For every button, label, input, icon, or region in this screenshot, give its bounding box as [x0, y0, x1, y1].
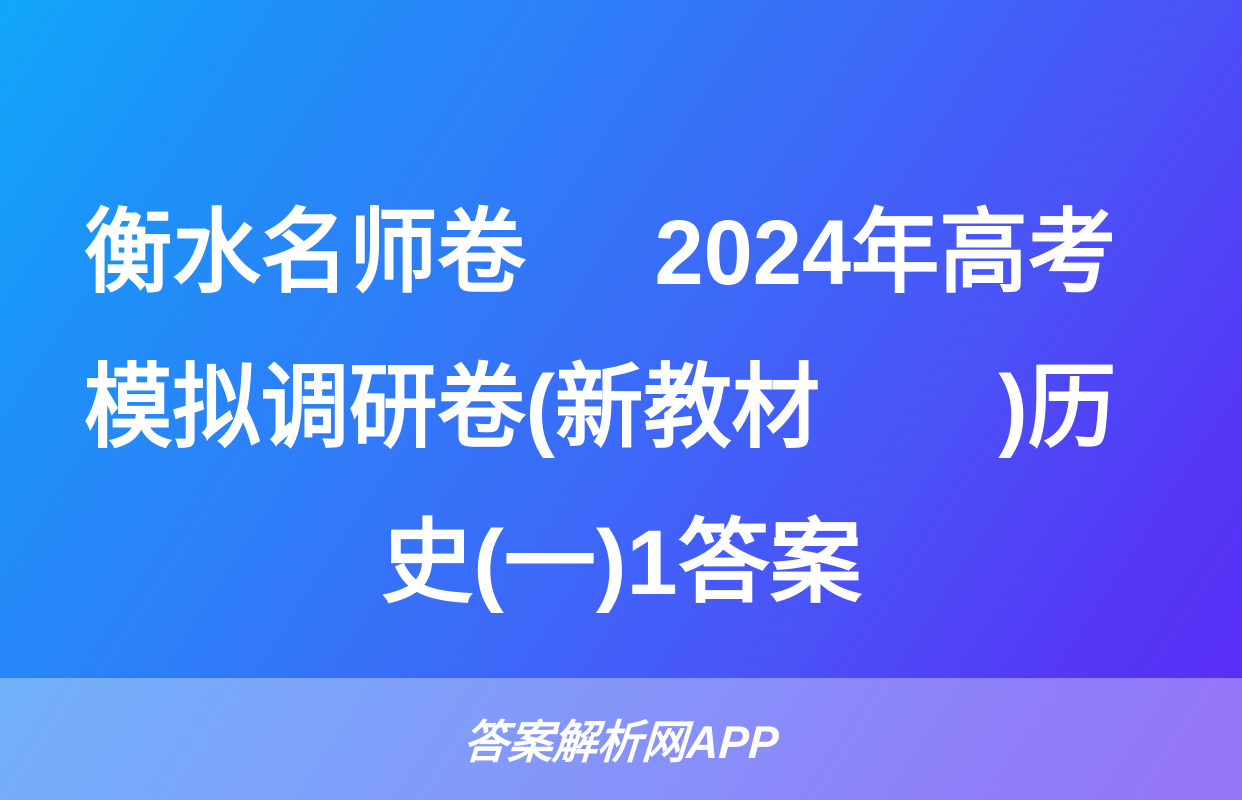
title-line-1-segment-b: 2024年高考: [655, 176, 1116, 331]
title-line-2: 模拟调研卷(新教材 )历: [84, 331, 1116, 486]
missing-glyph-placeholder: [848, 331, 971, 486]
title-line-2-segment-a: 模拟调研卷(新教材: [84, 331, 820, 486]
title-line-3: 史(一)1答案: [84, 486, 1159, 641]
watermark-band: 答案解析网APP: [0, 678, 1242, 800]
answer-cover-card: 衡水名师卷 2024年高考 模拟调研卷(新教材 )历 史(一)1答案 答案解析网…: [0, 0, 1242, 800]
app-watermark-label: 答案解析网APP: [461, 706, 780, 772]
title-line-1-segment-a: 衡水名师卷: [84, 176, 526, 331]
title-line-1: 衡水名师卷 2024年高考: [84, 176, 1116, 331]
title-line-2-segment-b: )历: [998, 331, 1116, 486]
page-title: 衡水名师卷 2024年高考 模拟调研卷(新教材 )历 史(一)1答案: [84, 176, 1159, 636]
